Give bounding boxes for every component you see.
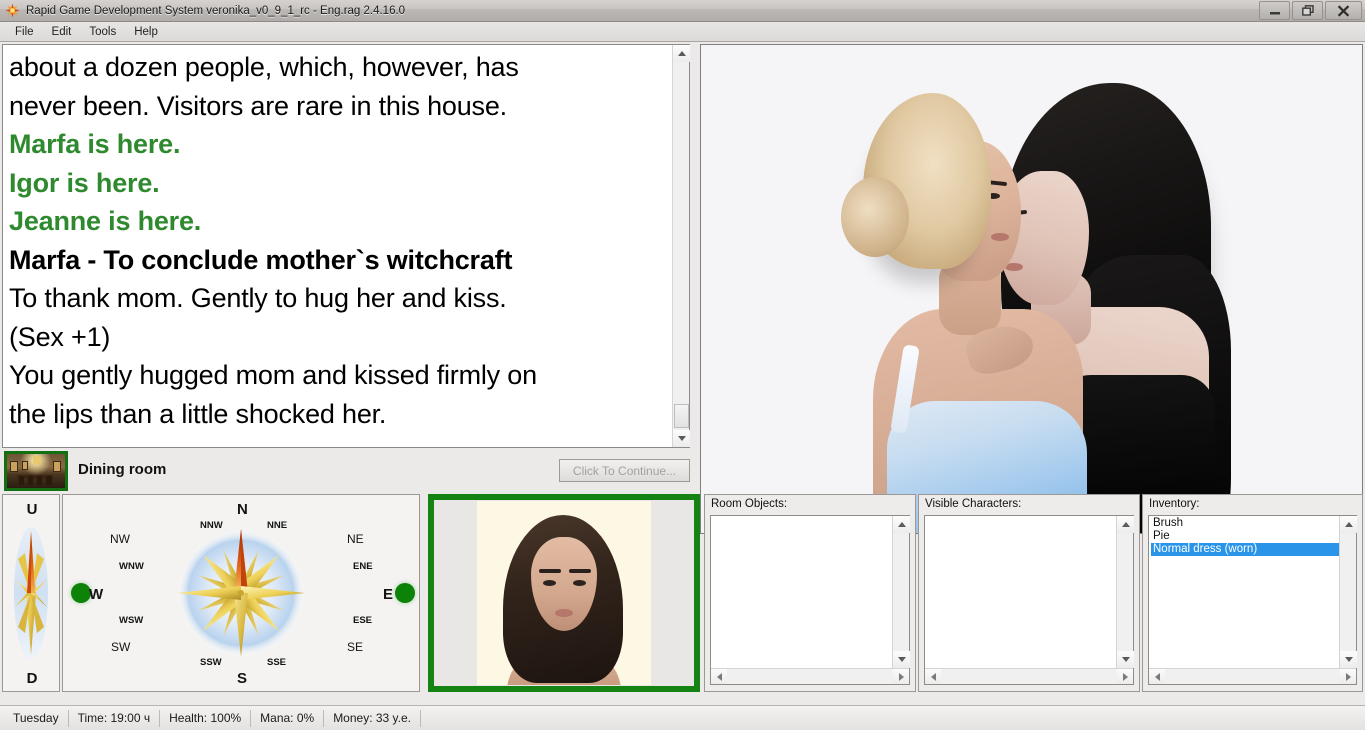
story-line: never been. Visitors are rare in this ho…: [9, 87, 666, 126]
list-item[interactable]: Pie: [1151, 530, 1339, 543]
portrait-inner: [435, 501, 693, 685]
direction-label-ssw[interactable]: SSW: [200, 657, 222, 668]
chair-shape: [28, 476, 33, 485]
chandelier-shape: [33, 456, 41, 465]
story-text-content: about a dozen people, which, however, ha…: [3, 45, 672, 447]
triangle-up-icon: [678, 51, 686, 56]
story-text-pane[interactable]: about a dozen people, which, however, ha…: [2, 44, 690, 448]
inventory-vertical-scrollbar[interactable]: [1339, 516, 1356, 668]
chair-shape: [19, 476, 24, 485]
direction-label-sse[interactable]: SSE: [267, 657, 286, 668]
room-objects-vertical-scrollbar[interactable]: [892, 516, 909, 668]
triangle-up-icon: [1345, 522, 1353, 527]
scroll-up-button[interactable]: [893, 516, 910, 533]
scroll-down-button[interactable]: [1340, 651, 1357, 668]
story-line-choice: Marfa - To conclude mother`s witchcraft: [9, 241, 666, 280]
scroll-right-button[interactable]: [1117, 669, 1133, 684]
status-day: Tuesday: [4, 710, 69, 727]
story-line: the lips than a little shocked her.: [9, 395, 666, 434]
menu-item-file[interactable]: File: [6, 24, 43, 40]
vertical-compass-icon: [14, 523, 48, 663]
direction-label-n[interactable]: N: [237, 501, 248, 518]
compass-navigation-panel[interactable]: N E S W NE SE SW NW NNE ENE ESE SSE SSW …: [62, 494, 420, 692]
chair-shape: [37, 476, 42, 485]
compass-rose-icon: [171, 523, 311, 663]
visible-characters-horizontal-scrollbar[interactable]: [925, 668, 1133, 684]
triangle-right-icon: [899, 673, 904, 681]
visible-characters-vertical-scrollbar[interactable]: [1116, 516, 1133, 668]
minimize-button[interactable]: [1259, 1, 1290, 20]
blonde-hair-bun-shape: [841, 177, 909, 257]
window-title: Rapid Game Development System veronika_v…: [26, 5, 405, 17]
direction-label-nw[interactable]: NW: [110, 532, 130, 546]
location-bar: Dining room Click To Continue...: [2, 450, 690, 492]
triangle-left-icon: [717, 673, 722, 681]
room-objects-panel: Room Objects:: [704, 494, 916, 692]
visible-characters-list[interactable]: [924, 515, 1134, 685]
story-line-presence: Igor is here.: [9, 164, 666, 203]
visible-characters-items[interactable]: [925, 516, 1116, 668]
vertical-navigation-panel[interactable]: U: [2, 494, 60, 692]
menu-item-edit[interactable]: Edit: [43, 24, 81, 40]
scroll-up-button[interactable]: [1117, 516, 1134, 533]
scroll-right-button[interactable]: [1340, 669, 1356, 684]
room-objects-items[interactable]: [711, 516, 892, 668]
list-item-selected[interactable]: Normal dress (worn): [1151, 543, 1339, 556]
story-line: You gently hugged mom and kissed firmly …: [9, 356, 666, 395]
menu-item-help[interactable]: Help: [125, 24, 167, 40]
direction-label-wnw[interactable]: WNW: [119, 561, 144, 572]
scroll-left-button[interactable]: [1149, 669, 1165, 684]
story-line-stat: (Sex +1): [9, 318, 666, 357]
direction-label-ese[interactable]: ESE: [353, 615, 372, 626]
inventory-title: Inventory:: [1143, 495, 1362, 512]
scene-image-two-characters: [700, 44, 1363, 534]
wall-picture: [10, 461, 18, 471]
room-name-label: Dining room: [78, 461, 166, 478]
triangle-down-icon: [678, 436, 686, 441]
restore-button[interactable]: [1292, 1, 1323, 20]
scroll-down-button[interactable]: [673, 430, 690, 447]
previous-location-dot[interactable]: [71, 583, 91, 603]
client-area: about a dozen people, which, however, ha…: [0, 42, 1365, 705]
direction-label-w[interactable]: W: [89, 586, 103, 603]
direction-label-se[interactable]: SE: [347, 640, 363, 654]
visible-characters-panel: Visible Characters:: [918, 494, 1140, 692]
scroll-down-button[interactable]: [893, 651, 910, 668]
room-objects-list[interactable]: [710, 515, 910, 685]
scroll-left-button[interactable]: [711, 669, 727, 684]
dining-room-thumbnail[interactable]: [4, 451, 68, 491]
story-vertical-scrollbar[interactable]: [672, 45, 689, 447]
direction-label-down[interactable]: D: [3, 670, 61, 687]
list-body: [925, 516, 1133, 668]
triangle-up-icon: [898, 522, 906, 527]
application-window: Rapid Game Development System veronika_v…: [0, 0, 1365, 730]
list-body: Brush Pie Normal dress (worn): [1149, 516, 1356, 668]
triangle-up-icon: [1122, 522, 1130, 527]
scroll-up-button[interactable]: [1340, 516, 1357, 533]
window-controls: [1257, 1, 1362, 20]
scroll-right-button[interactable]: [893, 669, 909, 684]
triangle-down-icon: [898, 657, 906, 662]
chair-shape: [46, 476, 51, 485]
room-objects-title: Room Objects:: [705, 495, 915, 512]
eyebrow-shape: [539, 569, 561, 573]
story-line: about a dozen people, which, however, ha…: [9, 48, 666, 87]
status-money: Money: 33 y.e.: [324, 710, 421, 727]
title-bar[interactable]: Rapid Game Development System veronika_v…: [0, 0, 1365, 22]
visible-characters-title: Visible Characters:: [919, 495, 1139, 512]
direction-label-nne[interactable]: NNE: [267, 520, 287, 531]
eye-shape: [543, 580, 556, 586]
room-objects-horizontal-scrollbar[interactable]: [711, 668, 909, 684]
scroll-left-button[interactable]: [925, 669, 941, 684]
lips-shape: [991, 233, 1009, 241]
app-starburst-icon: [5, 3, 20, 18]
direction-label-ne[interactable]: NE: [347, 532, 364, 546]
eye-shape: [573, 580, 586, 586]
direction-label-nnw[interactable]: NNW: [200, 520, 223, 531]
wall-picture: [22, 461, 28, 470]
next-location-dot[interactable]: [395, 583, 415, 603]
direction-label-s[interactable]: S: [237, 670, 247, 687]
inventory-panel: Inventory: Brush Pie Normal dress (worn): [1142, 494, 1363, 692]
wall-picture: [53, 461, 61, 471]
status-bar: Tuesday Time: 19:00 ч Health: 100% Mana:…: [0, 705, 1365, 730]
triangle-right-icon: [1346, 673, 1351, 681]
direction-label-ene[interactable]: ENE: [353, 561, 373, 572]
direction-label-e[interactable]: E: [383, 586, 393, 603]
menu-bar: File Edit Tools Help: [0, 22, 1365, 42]
inventory-horizontal-scrollbar[interactable]: [1149, 668, 1356, 684]
inventory-items[interactable]: Brush Pie Normal dress (worn): [1149, 516, 1339, 668]
status-mana: Mana: 0%: [251, 710, 324, 727]
status-time: Time: 19:00 ч: [69, 710, 161, 727]
menu-item-tools[interactable]: Tools: [80, 24, 125, 40]
story-line-presence: Jeanne is here.: [9, 202, 666, 241]
scroll-up-button[interactable]: [673, 45, 690, 62]
story-line: To thank mom. Gently to hug her and kiss…: [9, 279, 666, 318]
list-item[interactable]: Brush: [1151, 517, 1339, 530]
direction-label-sw[interactable]: SW: [111, 640, 130, 654]
scroll-down-button[interactable]: [1117, 651, 1134, 668]
list-body: [711, 516, 909, 668]
direction-label-wsw[interactable]: WSW: [119, 615, 143, 626]
direction-label-up[interactable]: U: [3, 501, 61, 518]
scrollbar-thumb[interactable]: [674, 404, 689, 428]
triangle-right-icon: [1123, 673, 1128, 681]
portrait-image: [477, 501, 651, 685]
close-button[interactable]: [1325, 1, 1362, 20]
triangle-down-icon: [1122, 657, 1130, 662]
triangle-left-icon: [1155, 673, 1160, 681]
triangle-left-icon: [931, 673, 936, 681]
status-health: Health: 100%: [160, 710, 251, 727]
player-portrait[interactable]: [428, 494, 700, 692]
eyebrow-shape: [569, 569, 591, 573]
lips-shape: [555, 609, 573, 617]
triangle-down-icon: [1345, 657, 1353, 662]
story-line-presence: Marfa is here.: [9, 125, 666, 164]
click-to-continue-button[interactable]: Click To Continue...: [559, 459, 690, 482]
inventory-list[interactable]: Brush Pie Normal dress (worn): [1148, 515, 1357, 685]
